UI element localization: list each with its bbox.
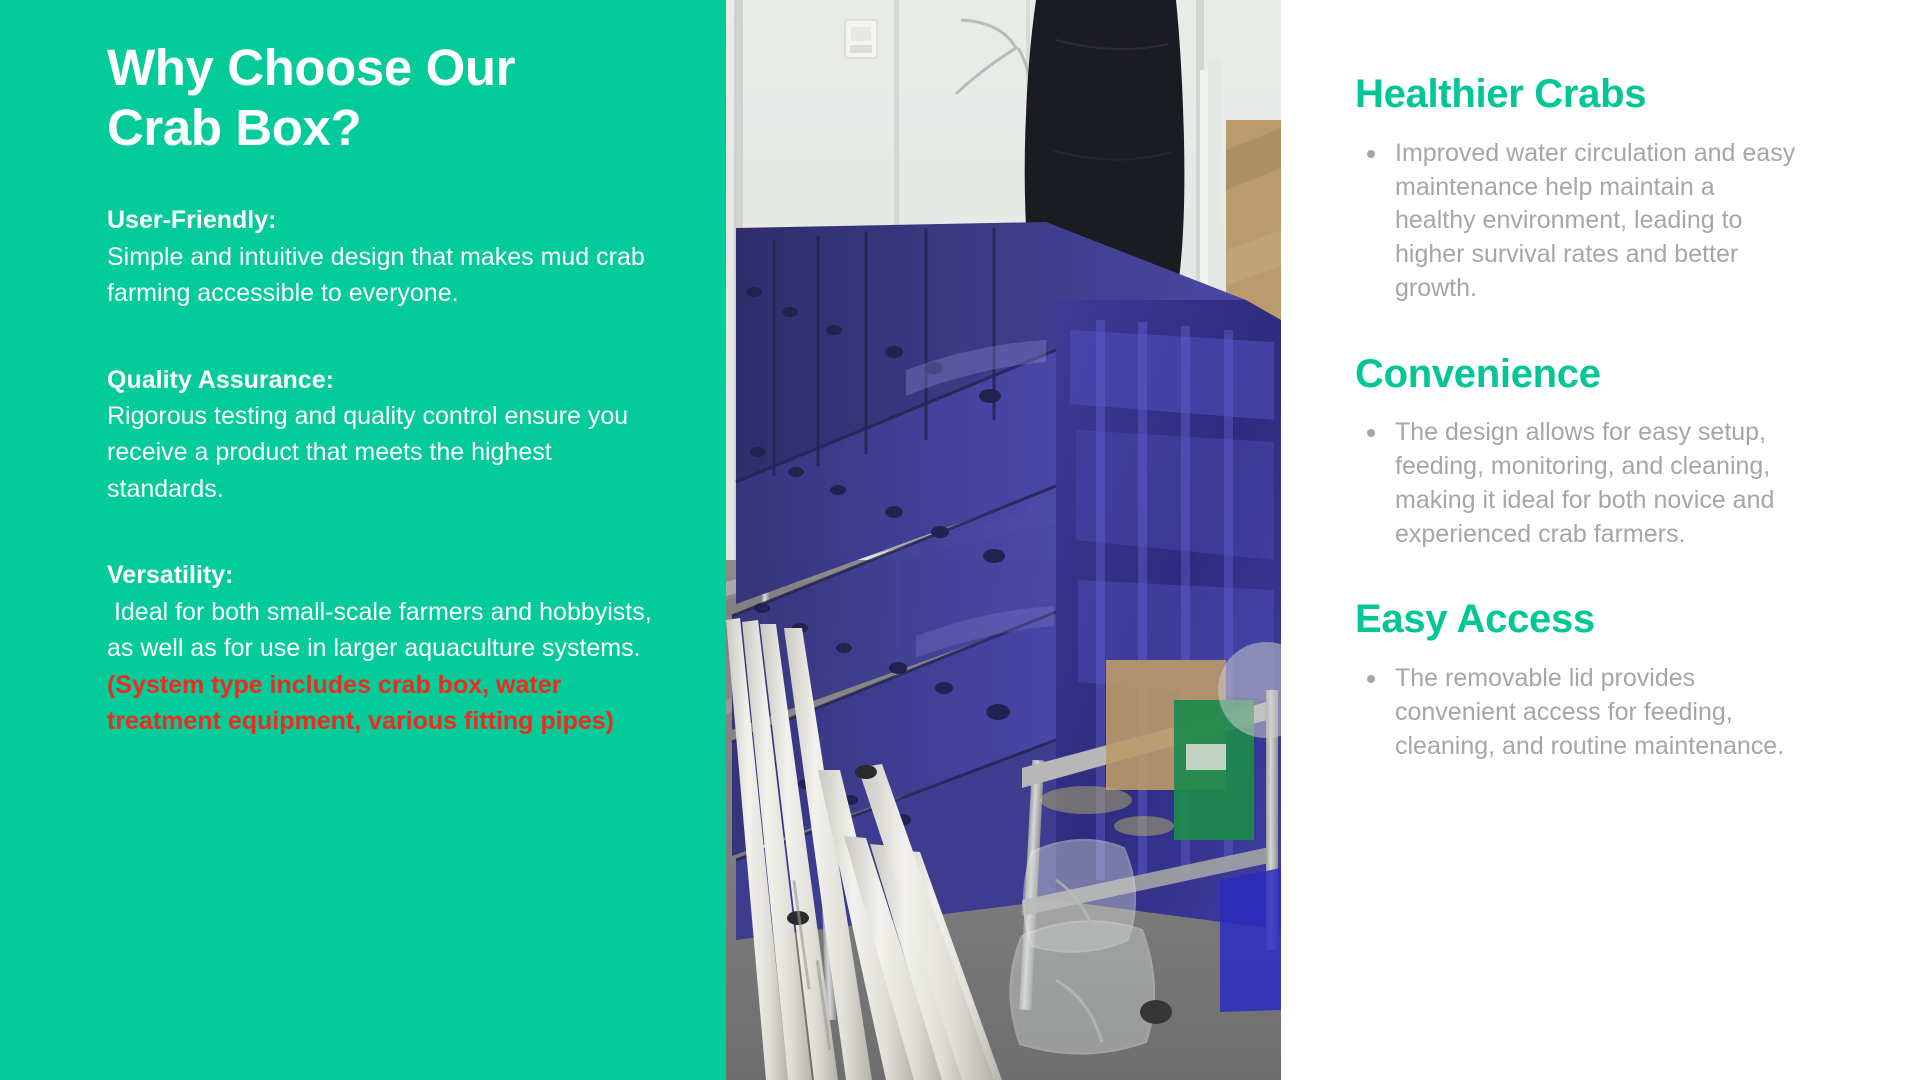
list-item: The removable lid provides convenient ac… <box>1355 662 1800 763</box>
right-benefits-panel: Healthier Crabs Improved water circulati… <box>1281 0 1920 1080</box>
left-green-panel: Why Choose Our Crab Box? User-Friendly: … <box>0 0 726 1080</box>
section-heading: Convenience <box>1355 352 1800 397</box>
feature-text: Simple and intuitive design that makes m… <box>107 239 656 312</box>
feature-block-quality-assurance: Quality Assurance: Rigorous testing and … <box>107 362 656 508</box>
list-item-text: The removable lid provides convenient ac… <box>1395 664 1784 760</box>
feature-label: User-Friendly: <box>107 202 656 238</box>
crab-box-rack-photo <box>726 0 1281 1080</box>
bullet-dot-icon <box>1367 675 1375 683</box>
photo-illustration <box>726 0 1281 1080</box>
section-heading: Easy Access <box>1355 597 1800 642</box>
list-item-text: The design allows for easy setup, feedin… <box>1395 418 1774 547</box>
feature-block-versatility: Versatility: Ideal for both small-scale … <box>107 557 656 739</box>
section-convenience: Convenience The design allows for easy s… <box>1355 352 1800 552</box>
section-easy-access: Easy Access The removable lid provides c… <box>1355 597 1800 763</box>
feature-text: Rigorous testing and quality control ens… <box>107 398 656 508</box>
list-item: The design allows for easy setup, feedin… <box>1355 416 1800 551</box>
bullet-list: The removable lid provides convenient ac… <box>1355 662 1800 763</box>
feature-block-user-friendly: User-Friendly: Simple and intuitive desi… <box>107 202 656 311</box>
feature-note-system-type: (System type includes crab box, water tr… <box>107 667 656 740</box>
section-heading: Healthier Crabs <box>1355 72 1800 117</box>
bullet-dot-icon <box>1367 429 1375 437</box>
feature-text: Ideal for both small-scale farmers and h… <box>107 594 656 667</box>
bullet-dot-icon <box>1367 150 1375 158</box>
list-item-text: Improved water circulation and easy main… <box>1395 139 1795 302</box>
list-item: Improved water circulation and easy main… <box>1355 137 1800 306</box>
section-healthier-crabs: Healthier Crabs Improved water circulati… <box>1355 72 1800 306</box>
feature-label: Versatility: <box>107 557 656 593</box>
bullet-list: The design allows for easy setup, feedin… <box>1355 416 1800 551</box>
slide-canvas: Why Choose Our Crab Box? User-Friendly: … <box>0 0 1920 1080</box>
feature-label: Quality Assurance: <box>107 362 656 398</box>
bullet-list: Improved water circulation and easy main… <box>1355 137 1800 306</box>
page-title: Why Choose Our Crab Box? <box>107 38 627 158</box>
